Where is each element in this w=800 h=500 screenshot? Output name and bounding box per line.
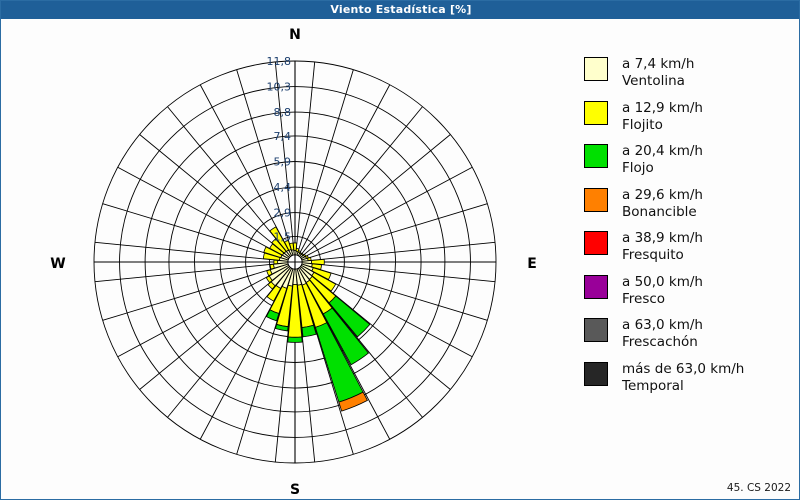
grid-spoke	[118, 265, 289, 356]
legend-label: a 50,0 km/hFresco	[622, 274, 703, 309]
polar-grid	[94, 61, 496, 463]
legend-term: Ventolina	[622, 73, 694, 90]
legend-label: a 38,9 km/hFresquito	[622, 230, 703, 265]
legend-speed: a 7,4 km/h	[622, 56, 694, 73]
grid-spoke	[296, 62, 315, 255]
footer-credit: 45. CS 2022	[727, 482, 791, 494]
grid-spoke	[302, 263, 495, 282]
radial-tick-label: 10,3	[267, 81, 292, 94]
compass-label-e: E	[527, 256, 537, 272]
legend-speed: más de 63,0 km/h	[622, 361, 744, 378]
compass-label-w: W	[50, 256, 65, 272]
rose-sector-segment[interactable]	[302, 325, 316, 337]
grid-spoke	[302, 242, 495, 261]
rose-sectors	[263, 227, 369, 411]
legend-term: Bonancible	[622, 204, 703, 221]
grid-spoke	[301, 134, 451, 257]
grid-spoke	[95, 242, 288, 261]
legend-speed: a 12,9 km/h	[622, 100, 703, 117]
radial-tick-label: 1,5	[274, 230, 292, 243]
legend-term: Fresco	[622, 291, 703, 308]
grid-spoke	[95, 263, 288, 282]
legend-label: a 63,0 km/hFrescachón	[622, 317, 703, 352]
grid-spoke	[140, 267, 290, 390]
grid-spoke	[301, 167, 472, 258]
compass-label-s: S	[290, 482, 300, 498]
legend-speed: a 29,6 km/h	[622, 187, 703, 204]
legend-swatch-icon	[584, 275, 608, 299]
legend-item[interactable]: a 20,4 km/hFlojo	[584, 143, 794, 178]
legend-item[interactable]: a 38,9 km/hFresquito	[584, 230, 794, 265]
radial-tick-label: 4,4	[274, 181, 292, 194]
legend-swatch-icon	[584, 188, 608, 212]
legend-speed: a 63,0 km/h	[622, 317, 703, 334]
rose-sector-segment[interactable]	[308, 257, 312, 260]
legend-label: más de 63,0 km/hTemporal	[622, 361, 744, 396]
window-titlebar: Viento Estadística [%]	[1, 1, 800, 19]
legend-item[interactable]: a 29,6 km/hBonancible	[584, 187, 794, 222]
grid-spoke	[300, 107, 423, 257]
radial-tick-label: 11,8	[267, 55, 292, 68]
window-title: Viento Estadística [%]	[330, 3, 471, 16]
legend-label: a 7,4 km/hVentolina	[622, 56, 694, 91]
legend-term: Fresquito	[622, 247, 703, 264]
legend-speed: a 20,4 km/h	[622, 143, 703, 160]
legend-item[interactable]: a 7,4 km/hVentolina	[584, 56, 794, 91]
legend-swatch-icon	[584, 57, 608, 81]
legend-label: a 29,6 km/hBonancible	[622, 187, 703, 222]
legend-term: Frescachón	[622, 334, 703, 351]
legend-swatch-icon	[584, 144, 608, 168]
legend-term: Flojo	[622, 160, 703, 177]
legend-swatch-icon	[584, 231, 608, 255]
radial-tick-label: 7,4	[274, 130, 292, 143]
legend-term: Flojito	[622, 117, 703, 134]
compass-label-n: N	[289, 27, 301, 43]
grid-spoke	[140, 134, 290, 257]
rose-sector-segment[interactable]	[274, 260, 278, 264]
plot-area: 1,52,94,45,97,48,810,311,8NESW a 7,4 km/…	[1, 20, 800, 500]
legend-label: a 20,4 km/hFlojo	[622, 143, 703, 178]
radial-tick-label: 2,9	[274, 207, 292, 220]
legend-term: Temporal	[622, 378, 744, 395]
legend: a 7,4 km/hVentolinaa 12,9 km/hFlojitoa 2…	[584, 56, 794, 404]
wind-rose-window: Viento Estadística [%] 1,52,94,45,97,48,…	[0, 0, 800, 500]
legend-item[interactable]: a 50,0 km/hFresco	[584, 274, 794, 309]
legend-speed: a 38,9 km/h	[622, 230, 703, 247]
grid-spoke	[298, 85, 389, 256]
legend-speed: a 50,0 km/h	[622, 274, 703, 291]
radial-tick-label: 8,8	[274, 106, 292, 119]
radial-tick-label: 5,9	[274, 156, 292, 169]
legend-label: a 12,9 km/hFlojito	[622, 100, 703, 135]
grid-spoke	[118, 167, 289, 258]
legend-item[interactable]: a 63,0 km/hFrescachón	[584, 317, 794, 352]
legend-swatch-icon	[584, 318, 608, 342]
rose-sector-segment[interactable]	[270, 264, 274, 269]
rose-sector-segment[interactable]	[288, 337, 302, 342]
legend-swatch-icon	[584, 101, 608, 125]
legend-item[interactable]: más de 63,0 km/hTemporal	[584, 361, 794, 396]
legend-item[interactable]: a 12,9 km/hFlojito	[584, 100, 794, 135]
legend-swatch-icon	[584, 362, 608, 386]
